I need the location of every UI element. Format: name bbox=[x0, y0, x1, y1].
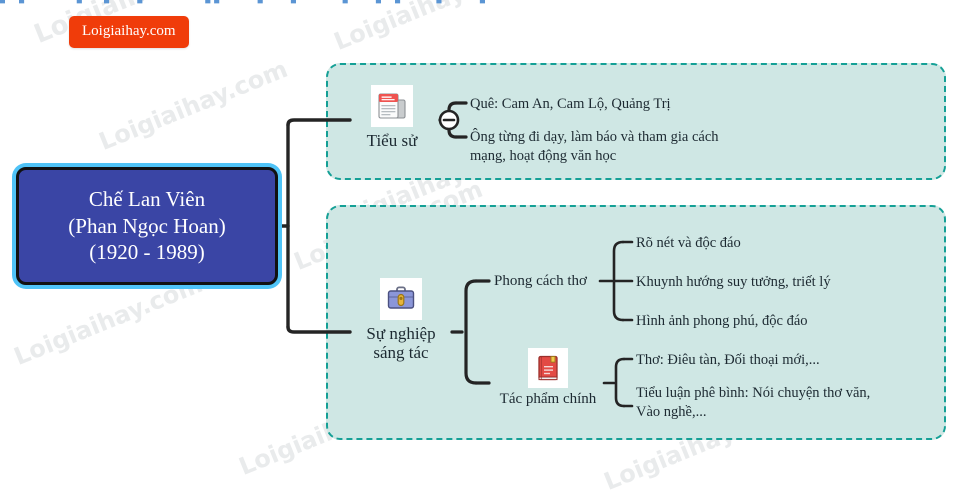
node-su-nghiep[interactable]: Sự nghiệp sáng tác bbox=[350, 278, 452, 362]
watermark: Loigiaihay.com bbox=[95, 55, 292, 156]
leaf-phong-cach-2: Khuynh hướng suy tưởng, triết lý bbox=[636, 273, 936, 292]
root-line-1: Chế Lan Viên bbox=[68, 186, 225, 213]
watermark: Loigiaihay.com bbox=[330, 0, 527, 56]
leaf-phong-cach-3: Hình ảnh phong phú, độc đáo bbox=[636, 312, 936, 331]
leaf-tac-pham-1: Thơ: Điêu tàn, Đối thoại mới,... bbox=[636, 351, 936, 370]
leaf-tieu-su-1: Quê: Cam An, Cam Lộ, Quảng Trị bbox=[470, 95, 780, 114]
node-su-nghiep-label: Sự nghiệp sáng tác bbox=[350, 324, 452, 362]
book-icon bbox=[528, 348, 568, 388]
node-tieu-su[interactable]: Tiểu sử bbox=[344, 85, 440, 150]
root-node[interactable]: Chế Lan Viên (Phan Ngọc Hoan) (1920 - 19… bbox=[16, 167, 278, 285]
briefcase-icon bbox=[380, 278, 422, 320]
node-tac-pham-chinh[interactable]: Tác phẩm chính bbox=[488, 348, 608, 408]
node-phong-cach-tho[interactable]: Phong cách thơ bbox=[494, 273, 587, 290]
leaf-phong-cach-1: Rõ nét và độc đáo bbox=[636, 234, 936, 253]
newspaper-icon bbox=[371, 85, 413, 127]
site-logo-badge[interactable]: Loigiaihay.com bbox=[69, 16, 189, 48]
leaf-tac-pham-2: Tiểu luận phê bình: Nói chuyện thơ văn, … bbox=[636, 384, 921, 422]
root-line-3: (1920 - 1989) bbox=[68, 239, 225, 266]
mindmap-canvas: Loigiaihay.com Loigiaihay.com Loigiaihay… bbox=[0, 0, 971, 490]
root-line-2: (Phan Ngọc Hoan) bbox=[68, 213, 225, 240]
site-logo-label: Loigiaihay.com bbox=[82, 23, 176, 39]
node-tieu-su-label: Tiểu sử bbox=[344, 131, 440, 150]
node-tac-pham-chinh-label: Tác phẩm chính bbox=[488, 391, 608, 408]
root-node-text: Chế Lan Viên (Phan Ngọc Hoan) (1920 - 19… bbox=[68, 186, 225, 267]
leaf-tieu-su-2: Ông từng đi dạy, làm báo và tham gia các… bbox=[470, 128, 900, 166]
node-phong-cach-tho-label: Phong cách thơ bbox=[494, 273, 587, 289]
top-edge-strip: ▌▐ ▬ ▬▌ ▐▬ ▌▬ ▬ ▐▌ ▬▐ ▬▌ ▬ ▐▬ ▌▐ ▬ ▌▬ ▐▬ bbox=[0, 0, 971, 8]
top-edge-strip-text: ▌▐ ▬ ▬▌ ▐▬ ▌▬ ▬ ▐▌ ▬▐ ▬▌ ▬ ▐▬ ▌▐ ▬ ▌▬ ▐▬ bbox=[0, 0, 505, 4]
